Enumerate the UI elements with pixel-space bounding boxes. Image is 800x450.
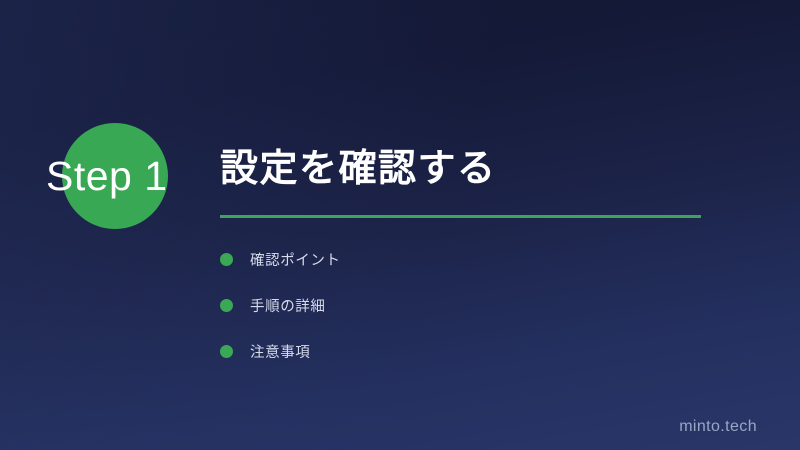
bullet-label: 注意事項 [250, 341, 310, 362]
title-divider [220, 215, 701, 218]
slide-canvas: Step 1 設定を確認する 確認ポイント 手順の詳細 注意事項 minto.t… [0, 0, 800, 450]
slide-content: Step 1 設定を確認する 確認ポイント 手順の詳細 注意事項 minto.t… [0, 0, 800, 450]
bullet-dot-icon [220, 253, 233, 266]
footer-brand: minto.tech [679, 418, 757, 436]
bullet-label: 確認ポイント [250, 249, 341, 270]
slide-title: 設定を確認する [220, 144, 497, 194]
bullet-dot-icon [220, 299, 233, 312]
bullet-label: 手順の詳細 [250, 295, 326, 316]
bullet-dot-icon [220, 345, 233, 358]
list-item: 注意事項 [220, 328, 341, 374]
list-item: 手順の詳細 [220, 282, 341, 328]
list-item: 確認ポイント [220, 236, 341, 282]
step-label: Step 1 [46, 152, 168, 200]
bullet-list: 確認ポイント 手順の詳細 注意事項 [220, 236, 341, 374]
